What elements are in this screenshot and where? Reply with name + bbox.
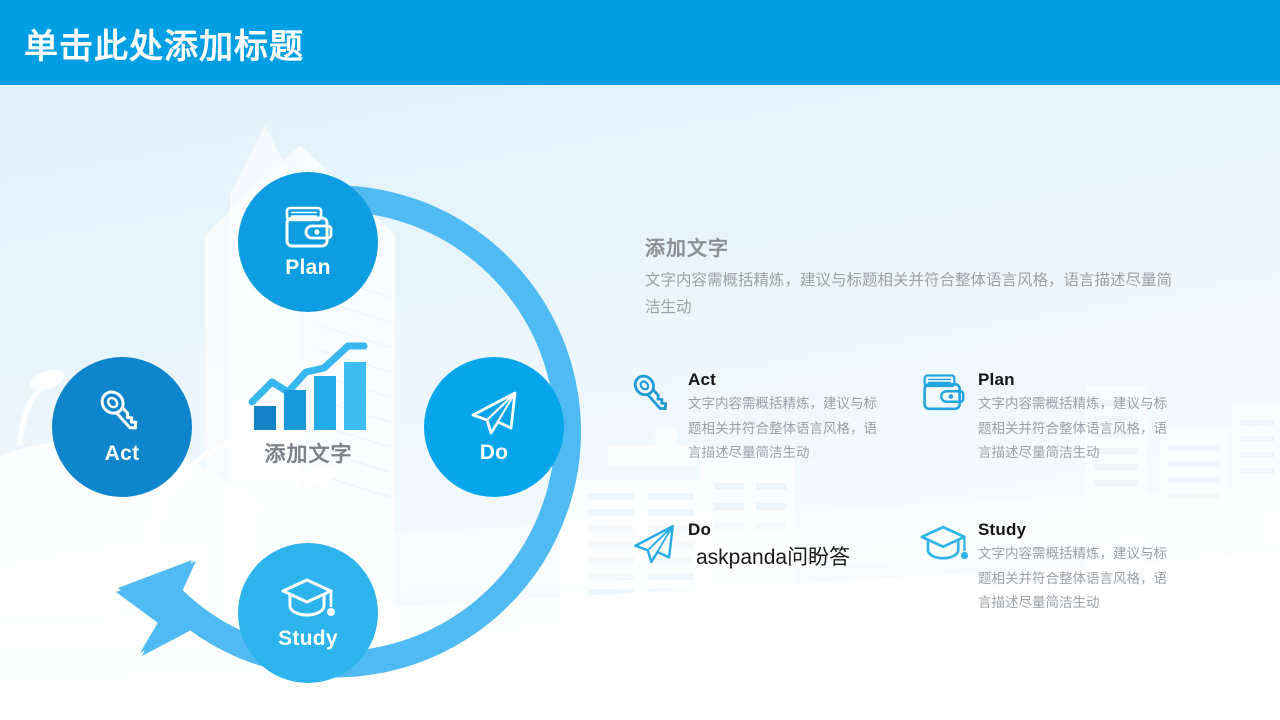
wallet-icon xyxy=(282,204,334,252)
cycle-node-do-label: Do xyxy=(480,441,509,465)
pdca-cycle-diagram: 添加文字 Plan xyxy=(20,145,600,705)
feature-item-plan-title: Plan xyxy=(978,370,1200,390)
key-icon xyxy=(630,372,676,418)
feature-item-plan-body: 文字内容需概括精炼，建议与标题相关并符合整体语言风格，语言描述尽量简洁生动 xyxy=(978,392,1178,466)
cycle-node-plan[interactable]: Plan xyxy=(238,172,378,312)
cycle-node-study[interactable]: Study xyxy=(238,543,378,683)
feature-item-study-title: Study xyxy=(978,520,1200,540)
graduation-cap-icon xyxy=(920,522,966,568)
feature-item-plan[interactable]: Plan 文字内容需概括精炼，建议与标题相关并符合整体语言风格，语言描述尽量简洁… xyxy=(920,370,1200,466)
feature-item-do[interactable]: Do askpanda问盼答 xyxy=(630,520,910,574)
cycle-node-study-label: Study xyxy=(278,627,338,651)
intro-title: 添加文字 xyxy=(645,232,1215,261)
center-chart: 添加文字 xyxy=(236,340,381,475)
title-bar: 单击此处添加标题 xyxy=(0,0,1280,85)
feature-item-study[interactable]: Study 文字内容需概括精炼，建议与标题相关并符合整体语言风格，语言描述尽量简… xyxy=(920,520,1200,616)
feature-item-do-title: Do xyxy=(688,520,910,540)
intro-block: 添加文字 文字内容需概括精炼，建议与标题相关并符合整体语言风格，语言描述尽量简洁… xyxy=(645,232,1215,321)
wallet-icon xyxy=(920,372,966,418)
graduation-cap-icon xyxy=(281,575,335,623)
bar-chart-growth-icon xyxy=(248,340,370,432)
feature-item-act[interactable]: Act 文字内容需概括精炼，建议与标题相关并符合整体语言风格，语言描述尽量简洁生… xyxy=(630,370,910,466)
paper-plane-icon xyxy=(630,522,676,568)
feature-item-study-body: 文字内容需概括精炼，建议与标题相关并符合整体语言风格，语言描述尽量简洁生动 xyxy=(978,542,1178,616)
slide-canvas: 单击此处添加标题 添加文字 xyxy=(0,0,1280,720)
feature-item-act-body: 文字内容需概括精炼，建议与标题相关并符合整体语言风格，语言描述尽量简洁生动 xyxy=(688,392,888,466)
cycle-node-plan-label: Plan xyxy=(285,256,331,280)
intro-body: 文字内容需概括精炼，建议与标题相关并符合整体语言风格，语言描述尽量简洁生动 xyxy=(645,267,1185,321)
cycle-node-act-label: Act xyxy=(105,442,140,466)
center-chart-caption: 添加文字 xyxy=(265,438,353,468)
paper-plane-icon xyxy=(467,389,521,437)
feature-item-act-title: Act xyxy=(688,370,910,390)
page-title: 单击此处添加标题 xyxy=(24,19,304,68)
cycle-node-act[interactable]: Act xyxy=(52,357,192,497)
key-icon xyxy=(97,388,147,438)
cycle-node-do[interactable]: Do xyxy=(424,357,564,497)
